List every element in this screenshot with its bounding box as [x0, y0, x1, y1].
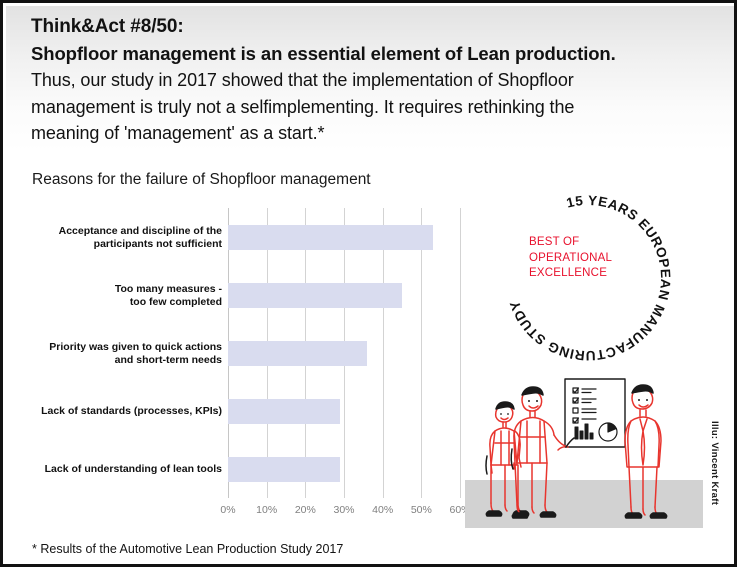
header-line-2: Shopfloor management is an essential ele… [31, 41, 719, 68]
x-axis-tick-label: 20% [295, 504, 316, 516]
chart-category-label-line: too few completed [32, 296, 222, 309]
chart-plot-area [228, 208, 460, 498]
gridline [460, 208, 461, 498]
chart-category-label: Lack of understanding of lean tools [32, 463, 222, 476]
header-banner: Think&Act #8/50: Shopfloor management is… [6, 6, 737, 151]
chart-category-label-line: and short-term needs [32, 354, 222, 367]
seal-center-line-2: OPERATIONAL [529, 251, 612, 267]
chart-bar [228, 399, 340, 424]
chart-category-label: Too many measures -too few completed [32, 283, 222, 309]
bar-chart: 0%10%20%30%40%50%60% [32, 208, 462, 528]
infographic-page: Think&Act #8/50: Shopfloor management is… [0, 0, 737, 567]
header-line-1: Think&Act #8/50: [31, 14, 719, 41]
footnote: * Results of the Automotive Lean Product… [32, 542, 343, 556]
chart-bar-row [228, 382, 460, 440]
chart-bar-row [228, 208, 460, 266]
illustration-people [465, 361, 710, 529]
header-line-4: management is truly not a selfimplementi… [31, 94, 719, 121]
chart-category-label-line: participants not sufficient [32, 238, 222, 251]
chart-bar-row [228, 440, 460, 498]
chart-title: Reasons for the failure of Shopfloor man… [32, 171, 371, 189]
chart-bar [228, 341, 367, 366]
chart-category-label-line: Acceptance and discipline of the [32, 225, 222, 238]
chart-category-label-line: Lack of standards (processes, KPIs) [32, 405, 222, 418]
chart-category-label: Priority was given to quick actionsand s… [32, 341, 222, 367]
chart-bar [228, 283, 402, 308]
x-axis-tick-label: 0% [220, 504, 235, 516]
illustration-credit: Illu: Vincent Kraft [709, 421, 720, 505]
header-line-5: meaning of 'management' as a start.* [31, 120, 719, 147]
x-axis-tick-label: 30% [333, 504, 354, 516]
seal-center-line-1: BEST OF [529, 235, 612, 251]
chart-category-label-line: Priority was given to quick actions [32, 341, 222, 354]
x-axis-tick-label: 40% [372, 504, 393, 516]
chart-bar-row [228, 266, 460, 324]
x-axis-tick-label: 50% [411, 504, 432, 516]
study-seal: 15 YEARS EUROPEAN MANUFACTURING STUDY BE… [498, 186, 683, 361]
chart-category-label-line: Too many measures - [32, 283, 222, 296]
chart-category-label: Acceptance and discipline of theparticip… [32, 225, 222, 251]
seal-center-line-3: EXCELLENCE [529, 266, 612, 282]
chart-category-label-line: Lack of understanding of lean tools [32, 463, 222, 476]
chart-bar [228, 225, 433, 250]
header-line-3: Thus, our study in 2017 showed that the … [31, 67, 719, 94]
seal-center-text: BEST OF OPERATIONAL EXCELLENCE [529, 235, 612, 282]
chart-bar [228, 457, 340, 482]
chart-category-label: Lack of standards (processes, KPIs) [32, 405, 222, 418]
chart-bar-row [228, 324, 460, 382]
x-axis-tick-label: 10% [256, 504, 277, 516]
